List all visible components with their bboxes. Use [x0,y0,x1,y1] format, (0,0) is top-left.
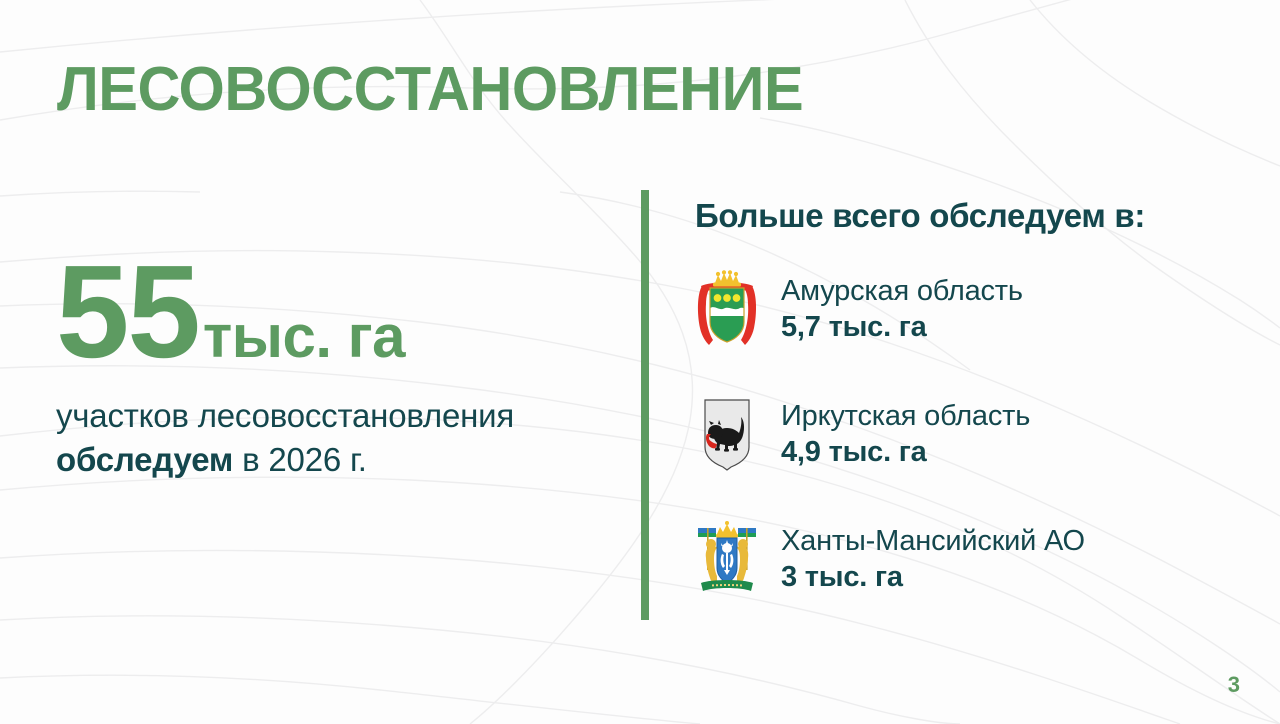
region-name: Иркутская область [781,398,1030,434]
list-item: Ханты-Мансийский АО 3 тыс. га [695,520,1235,598]
stat-number: 55 [56,252,199,372]
stat-description-rest: в 2026 г. [233,441,367,478]
regions-panel: Больше всего обследуем в: [695,196,1235,598]
stat-block: 55 тыс. га участков лесовосстановления о… [56,252,636,482]
stat-headline: 55 тыс. га [56,252,636,372]
region-name: Амурская область [781,273,1023,309]
irkutsk-oblast-coat-of-arms-icon [695,395,759,473]
region-value: 4,9 тыс. га [781,434,1030,470]
region-text: Амурская область 5,7 тыс. га [781,273,1023,345]
region-list: Амурская область 5,7 тыс. га [695,270,1235,598]
vertical-divider [641,190,649,620]
list-item: Иркутская область 4,9 тыс. га [695,395,1235,473]
region-name: Ханты-Мансийский АО [781,523,1085,559]
region-value: 5,7 тыс. га [781,309,1023,345]
stat-description-line1: участков лесовосстановления [56,397,514,434]
region-text: Ханты-Мансийский АО 3 тыс. га [781,523,1085,595]
khanty-mansi-okrug-coat-of-arms-icon [695,520,759,598]
stat-unit: тыс. га [203,307,405,367]
stat-description-emphasis: обследуем [56,441,233,478]
stat-description: участков лесовосстановления обследуем в … [56,394,636,482]
region-text: Иркутская область 4,9 тыс. га [781,398,1030,470]
amur-oblast-coat-of-arms-icon [695,270,759,348]
slide-root: ЛЕСОВОССТАНОВЛЕНИЕ 55 тыс. га участков л… [0,0,1280,724]
list-item: Амурская область 5,7 тыс. га [695,270,1235,348]
page-title: ЛЕСОВОССТАНОВЛЕНИЕ [57,56,803,124]
regions-panel-heading: Больше всего обследуем в: [695,196,1235,236]
page-number: 3 [1228,672,1240,698]
region-value: 3 тыс. га [781,559,1085,595]
